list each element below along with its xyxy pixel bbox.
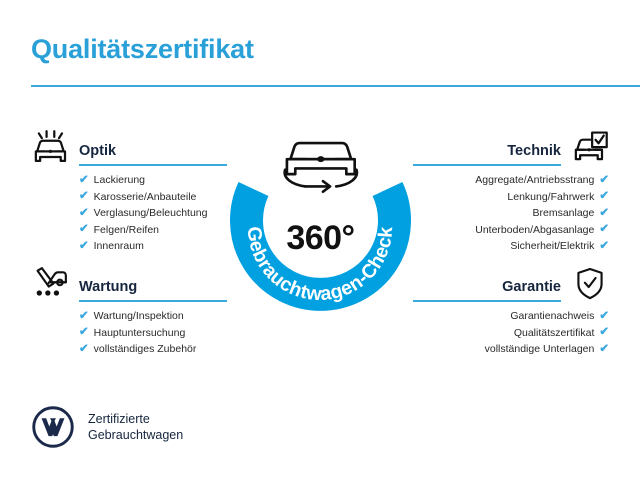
list-item: ✔ Aggregate/Antriebsstrang [413, 172, 609, 189]
car-checkbox-icon [571, 130, 609, 166]
check-icon: ✔ [599, 208, 609, 220]
page-title: Qualitätszertifikat [31, 34, 254, 65]
list-item: ✔ Hauptuntersuchung [79, 325, 227, 342]
list-item: ✔ Innenraum [79, 238, 227, 255]
check-icon: ✔ [599, 241, 609, 253]
check-icon: ✔ [79, 208, 89, 220]
list-item-label: Lackierung [94, 172, 145, 189]
car-rotate-360-icon [285, 143, 357, 192]
brand-text-line1: Zertifizierte [88, 411, 183, 427]
check-list-wartung: ✔ Wartung/Inspektion ✔ Hauptuntersuchung… [31, 308, 227, 358]
badge-center-label: 360° [286, 219, 354, 257]
section-rule-optik [79, 164, 227, 166]
section-rule-wartung [79, 300, 227, 302]
check-list-technik: ✔ Aggregate/Antriebsstrang ✔ Lenkung/Fah… [413, 172, 609, 255]
section-header-garantie: Garantie [413, 262, 609, 308]
list-item: ✔ Felgen/Reifen [79, 222, 227, 239]
section-header-optik: Optik [31, 126, 227, 172]
list-item: ✔ vollständige Unterlagen [413, 341, 609, 358]
check-icon: ✔ [79, 344, 89, 356]
section-wartung: Wartung ✔ Wartung/Inspektion ✔ Hauptunte… [31, 262, 227, 358]
list-item-label: Aggregate/Antriebsstrang [475, 172, 594, 189]
section-header-technik: Technik [413, 126, 609, 172]
check-icon: ✔ [599, 175, 609, 187]
list-item-label: Sicherheit/Elektrik [510, 238, 594, 255]
check-icon: ✔ [79, 311, 89, 323]
shield-check-icon [571, 266, 609, 302]
check-icon: ✔ [79, 191, 89, 203]
list-item-label: Karosserie/Anbauteile [94, 189, 197, 206]
brand-text: Zertifizierte Gebrauchtwagen [88, 411, 183, 443]
section-rule-technik [413, 164, 561, 166]
list-item: ✔ Bremsanlage [413, 205, 609, 222]
car-shine-icon [31, 130, 69, 166]
section-technik: Technik ✔ Aggregate/Antriebsstrang ✔ Len… [413, 126, 609, 255]
list-item-label: Innenraum [94, 238, 144, 255]
list-item-label: Qualitätszertifikat [514, 325, 595, 342]
section-header-wartung: Wartung [31, 262, 227, 308]
list-item-label: Verglasung/Beleuchtung [94, 205, 208, 222]
car-service-wrench-icon [31, 266, 69, 302]
check-icon: ✔ [79, 241, 89, 253]
section-optik: Optik ✔ Lackierung ✔ Karosserie/Anbautei… [31, 126, 227, 255]
gebrauchtwagen-check-badge: Gebrauchtwagen-Check 360° [224, 127, 417, 320]
list-item-label: Wartung/Inspektion [94, 308, 184, 325]
list-item: ✔ Karosserie/Anbauteile [79, 189, 227, 206]
list-item: ✔ Lenkung/Fahrwerk [413, 189, 609, 206]
list-item: ✔ vollständiges Zubehör [79, 341, 227, 358]
list-item-label: Bremsanlage [532, 205, 594, 222]
check-list-garantie: ✔ Garantienachweis ✔ Qualitätszertifikat… [413, 308, 609, 358]
check-icon: ✔ [79, 327, 89, 339]
list-item-label: Garantienachweis [510, 308, 594, 325]
section-title-garantie: Garantie [502, 279, 561, 295]
list-item-label: Unterboden/Abgasanlage [475, 222, 594, 239]
check-icon: ✔ [599, 311, 609, 323]
section-garantie: Garantie ✔ Garantienachweis ✔ Qualitätsz… [413, 262, 609, 358]
list-item-label: Felgen/Reifen [94, 222, 159, 239]
list-item: ✔ Sicherheit/Elektrik [413, 238, 609, 255]
section-title-technik: Technik [507, 143, 561, 159]
check-icon: ✔ [599, 327, 609, 339]
list-item: ✔ Wartung/Inspektion [79, 308, 227, 325]
section-rule-garantie [413, 300, 561, 302]
brand-lockup: Zertifizierte Gebrauchtwagen [31, 405, 183, 449]
check-icon: ✔ [599, 344, 609, 356]
list-item-label: Hauptuntersuchung [94, 325, 186, 342]
section-title-optik: Optik [79, 143, 116, 159]
check-list-optik: ✔ Lackierung ✔ Karosserie/Anbauteile ✔ V… [31, 172, 227, 255]
check-icon: ✔ [599, 224, 609, 236]
list-item: ✔ Garantienachweis [413, 308, 609, 325]
list-item: ✔ Lackierung [79, 172, 227, 189]
list-item-label: vollständige Unterlagen [485, 341, 595, 358]
header-divider [31, 85, 640, 87]
list-item-label: vollständiges Zubehör [94, 341, 197, 358]
list-item: ✔ Verglasung/Beleuchtung [79, 205, 227, 222]
check-icon: ✔ [79, 224, 89, 236]
list-item-label: Lenkung/Fahrwerk [507, 189, 594, 206]
brand-text-line2: Gebrauchtwagen [88, 427, 183, 443]
check-icon: ✔ [79, 175, 89, 187]
list-item: ✔ Qualitätszertifikat [413, 325, 609, 342]
section-title-wartung: Wartung [79, 279, 137, 295]
check-icon: ✔ [599, 191, 609, 203]
list-item: ✔ Unterboden/Abgasanlage [413, 222, 609, 239]
vw-logo-icon [31, 405, 75, 449]
